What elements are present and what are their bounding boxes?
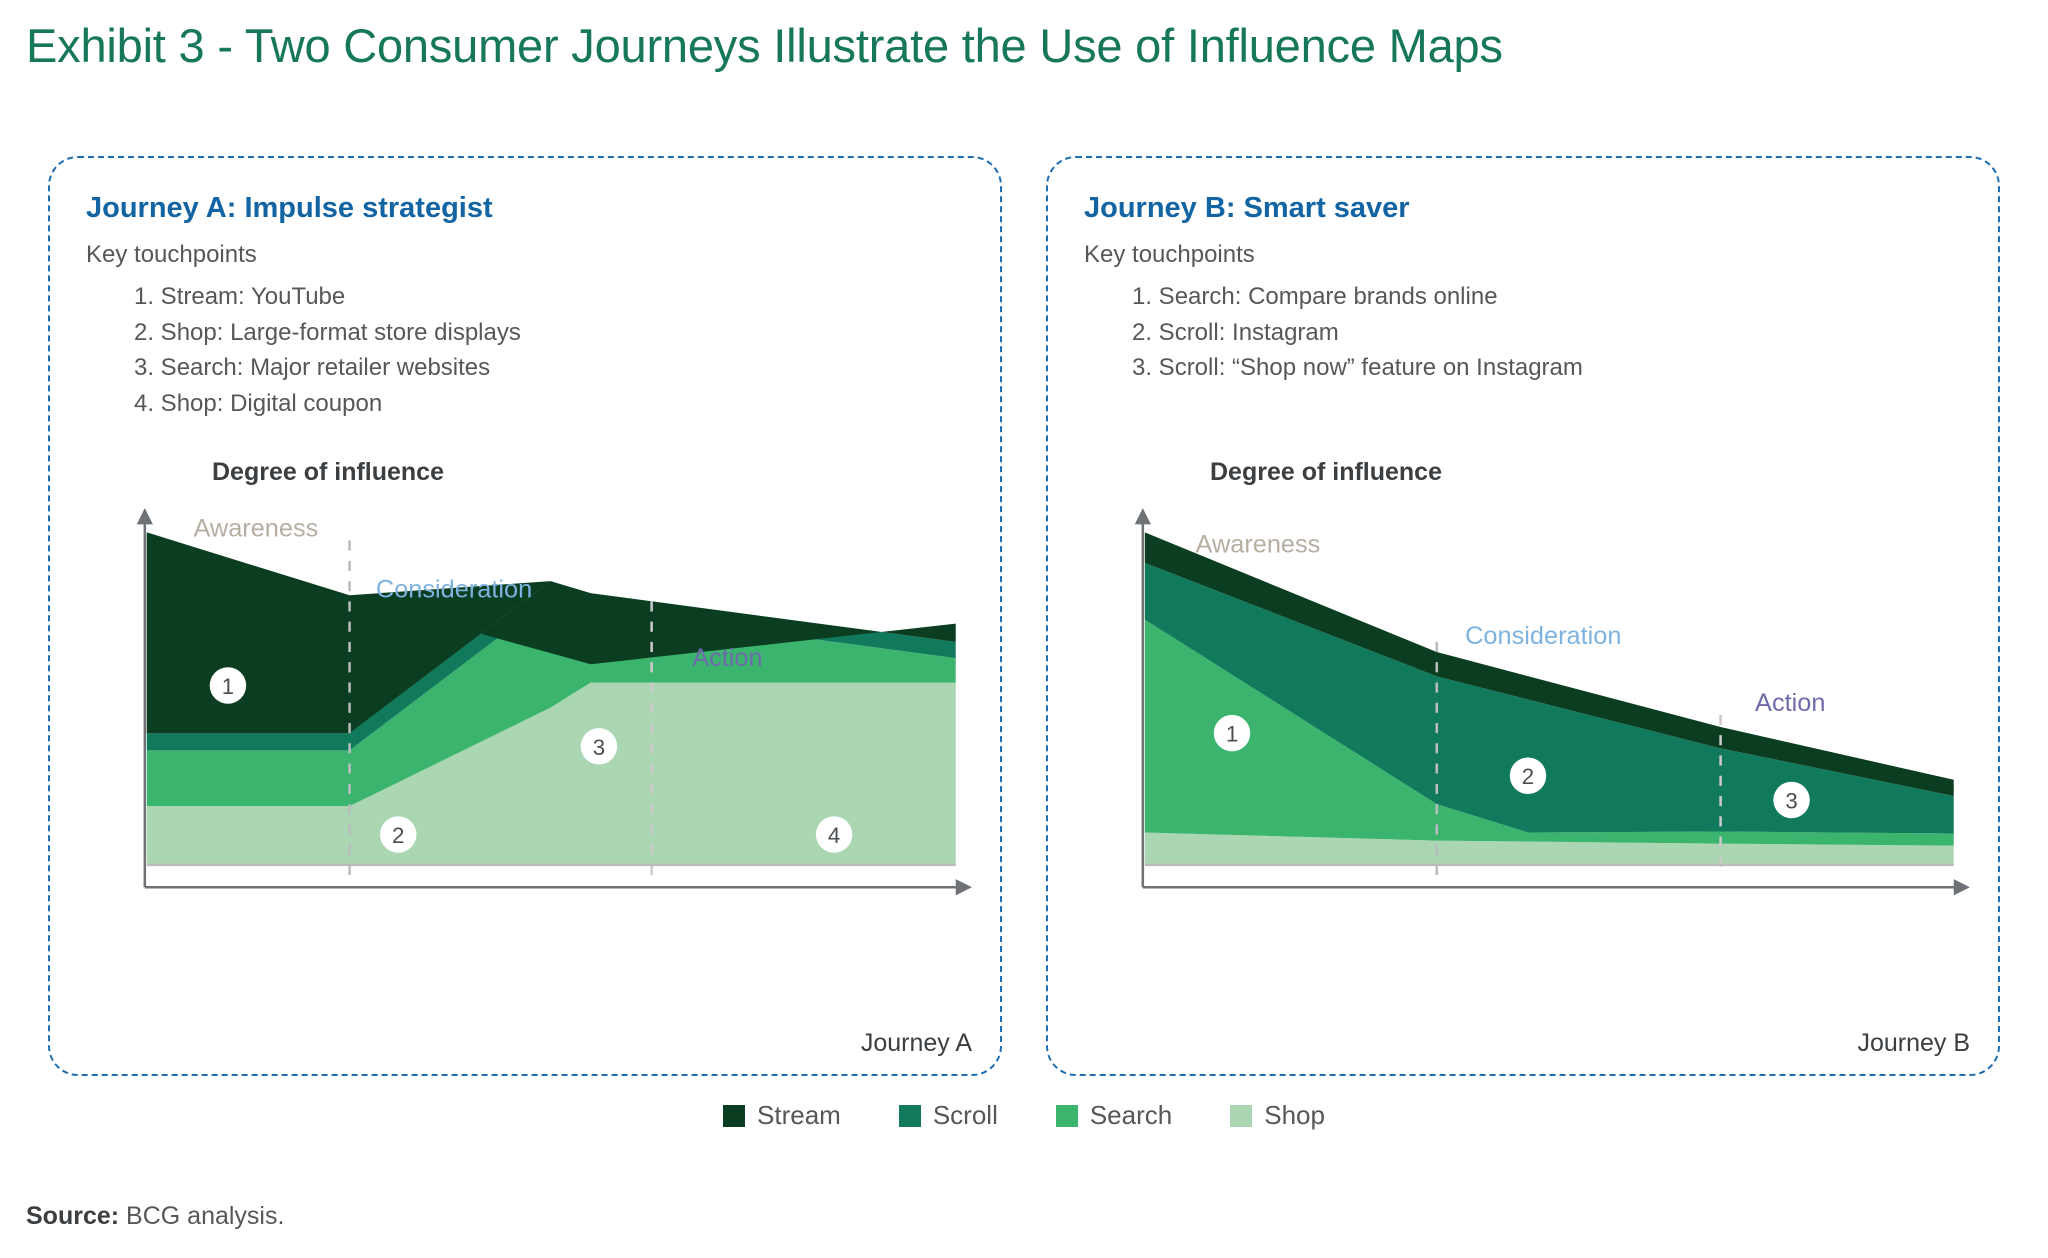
journey-a-chart: Degree of influence bbox=[84, 458, 976, 1060]
legend-swatch-stream-icon bbox=[723, 1105, 745, 1127]
marker-1: 1 bbox=[210, 667, 246, 703]
stage-label-consideration: Consideration bbox=[376, 575, 532, 603]
marker-label: 2 bbox=[1522, 764, 1534, 789]
legend-swatch-shop-icon bbox=[1230, 1105, 1252, 1127]
marker-4: 4 bbox=[816, 816, 852, 852]
source-note: Source: BCG analysis. bbox=[26, 1202, 284, 1231]
source-text: BCG analysis. bbox=[126, 1202, 284, 1230]
marker-3: 3 bbox=[1773, 782, 1809, 818]
list-item: 4. Shop: Digital coupon bbox=[134, 386, 966, 422]
stage-label-consideration: Consideration bbox=[1465, 622, 1621, 650]
legend-item-scroll: Scroll bbox=[899, 1100, 998, 1131]
legend-swatch-scroll-icon bbox=[899, 1105, 921, 1127]
legend-label: Shop bbox=[1264, 1100, 1325, 1131]
journey-a-x-label: Journey A bbox=[861, 1029, 972, 1058]
marker-1: 1 bbox=[1214, 715, 1250, 751]
journey-b-touchpoints-label: Key touchpoints bbox=[1084, 241, 1964, 269]
legend-item-search: Search bbox=[1056, 1100, 1172, 1131]
legend-label: Search bbox=[1090, 1100, 1172, 1131]
legend-label: Stream bbox=[757, 1100, 841, 1131]
marker-label: 3 bbox=[1785, 789, 1797, 814]
marker-label: 3 bbox=[593, 735, 605, 760]
marker-2: 2 bbox=[380, 816, 416, 852]
stage-label-action: Action bbox=[692, 644, 762, 672]
list-item: 3. Scroll: “Shop now” feature on Instagr… bbox=[1132, 350, 1964, 386]
journey-b-touchpoint-list: 1. Search: Compare brands online 2. Scro… bbox=[1132, 279, 1964, 386]
stage-label-awareness: Awareness bbox=[1196, 531, 1321, 559]
y-axis-title: Degree of influence bbox=[212, 458, 444, 487]
list-item: 2. Shop: Large-format store displays bbox=[134, 315, 966, 351]
journey-a-panel: Journey A: Impulse strategist Key touchp… bbox=[48, 156, 1002, 1076]
journey-b-title: Journey B: Smart saver bbox=[1084, 192, 1964, 225]
marker-label: 1 bbox=[222, 674, 234, 699]
source-label: Source: bbox=[26, 1202, 119, 1230]
journey-a-touchpoint-list: 1. Stream: YouTube 2. Shop: Large-format… bbox=[134, 279, 966, 421]
journey-b-panel: Journey B: Smart saver Key touchpoints 1… bbox=[1046, 156, 2000, 1076]
list-item: 1. Search: Compare brands online bbox=[1132, 279, 1964, 315]
stage-label-awareness: Awareness bbox=[193, 514, 318, 542]
legend-swatch-search-icon bbox=[1056, 1105, 1078, 1127]
marker-label: 4 bbox=[828, 823, 840, 848]
stage-label-action: Action bbox=[1755, 689, 1825, 717]
journey-panels: Journey A: Impulse strategist Key touchp… bbox=[0, 156, 2048, 1076]
marker-2: 2 bbox=[1510, 757, 1546, 793]
legend-item-shop: Shop bbox=[1230, 1100, 1325, 1131]
legend-label: Scroll bbox=[933, 1100, 998, 1131]
legend-item-stream: Stream bbox=[723, 1100, 841, 1131]
y-axis-title: Degree of influence bbox=[1210, 458, 1442, 487]
marker-3: 3 bbox=[581, 728, 617, 764]
list-item: 2. Scroll: Instagram bbox=[1132, 315, 1964, 351]
journey-a-area-chart: Awareness Consideration Action 1 2 3 bbox=[84, 500, 976, 905]
chart-legend: Stream Scroll Search Shop bbox=[0, 1100, 2048, 1131]
list-item: 3. Search: Major retailer websites bbox=[134, 350, 966, 386]
journey-b-area-chart: Awareness Consideration Action 1 2 3 bbox=[1082, 500, 1974, 905]
marker-label: 2 bbox=[392, 823, 404, 848]
marker-label: 1 bbox=[1226, 722, 1238, 747]
journey-b-chart: Degree of influence bbox=[1082, 458, 1974, 1060]
list-item: 1. Stream: YouTube bbox=[134, 279, 966, 315]
x-axis bbox=[145, 879, 972, 895]
x-axis bbox=[1143, 879, 1970, 895]
page-title: Exhibit 3 - Two Consumer Journeys Illust… bbox=[26, 18, 1503, 73]
journey-b-x-label: Journey B bbox=[1857, 1029, 1970, 1058]
journey-a-title: Journey A: Impulse strategist bbox=[86, 192, 966, 225]
journey-a-touchpoints-label: Key touchpoints bbox=[86, 241, 966, 269]
